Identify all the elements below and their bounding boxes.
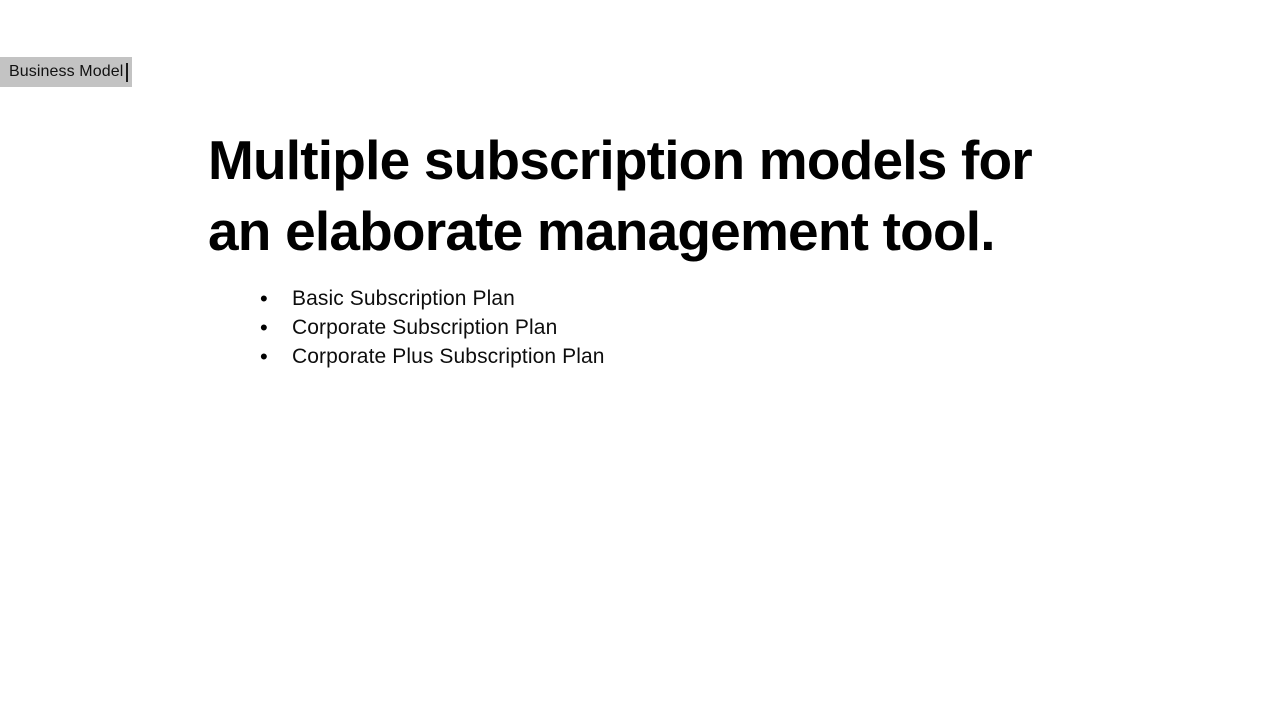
list-item-label: Corporate Subscription Plan [292,313,557,342]
list-item[interactable]: • Corporate Plus Subscription Plan [260,342,960,371]
text-cursor-caret [126,63,128,82]
list-item-label: Corporate Plus Subscription Plan [292,342,605,371]
bullet-list[interactable]: • Basic Subscription Plan • Corporate Su… [260,284,960,371]
list-item[interactable]: • Basic Subscription Plan [260,284,960,313]
presentation-slide: Business Model Multiple subscription mod… [0,0,1280,720]
section-label-text: Business Model [9,64,123,80]
slide-title-line-1: Multiple subscription models for [208,125,1088,196]
slide-title[interactable]: Multiple subscription models for an elab… [208,125,1088,267]
bullet-point-icon: • [260,313,292,342]
list-item-label: Basic Subscription Plan [292,284,515,313]
list-item[interactable]: • Corporate Subscription Plan [260,313,960,342]
bullet-point-icon: • [260,342,292,371]
bullet-point-icon: • [260,284,292,313]
section-label-badge[interactable]: Business Model [0,57,132,87]
slide-title-line-2: an elaborate management tool. [208,196,1088,267]
